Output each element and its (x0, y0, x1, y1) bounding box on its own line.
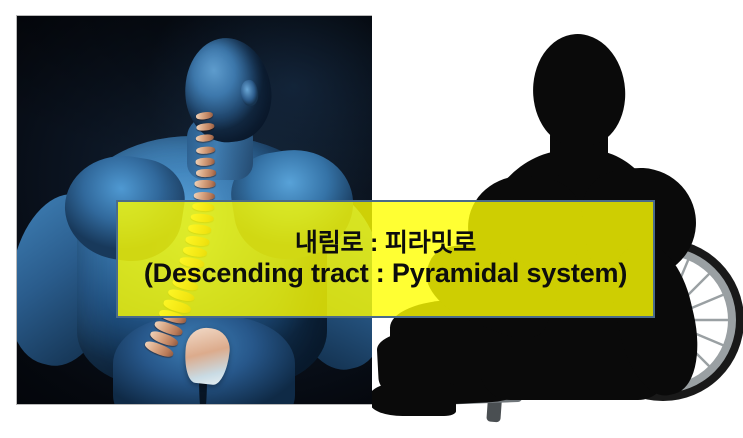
silhouette-foot (372, 382, 456, 416)
vertebra (196, 146, 215, 155)
vertebra (196, 157, 216, 165)
vertebra (196, 111, 214, 120)
caption-banner: 내림로 : 피라밋로 (Descending tract : Pyramidal… (116, 200, 655, 318)
caption-line-english: (Descending tract : Pyramidal system) (144, 258, 627, 289)
vertebra (195, 180, 216, 188)
slide-canvas: 내림로 : 피라밋로 (Descending tract : Pyramidal… (0, 0, 743, 438)
vertebra (196, 134, 215, 143)
vertebra (194, 191, 216, 200)
vertebra (196, 123, 214, 132)
vertebra (195, 169, 215, 177)
caption-line-korean: 내림로 : 피라밋로 (295, 229, 476, 258)
